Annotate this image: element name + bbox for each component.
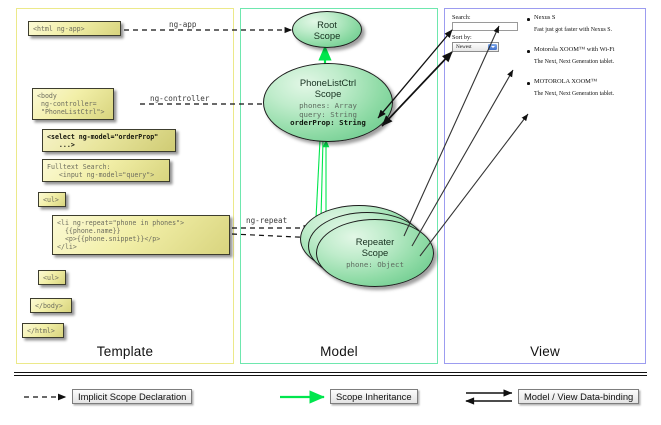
legend-arrow-layer	[0, 0, 661, 425]
diagram-canvas: Template <html ng-app> <body ng-controll…	[0, 0, 661, 425]
